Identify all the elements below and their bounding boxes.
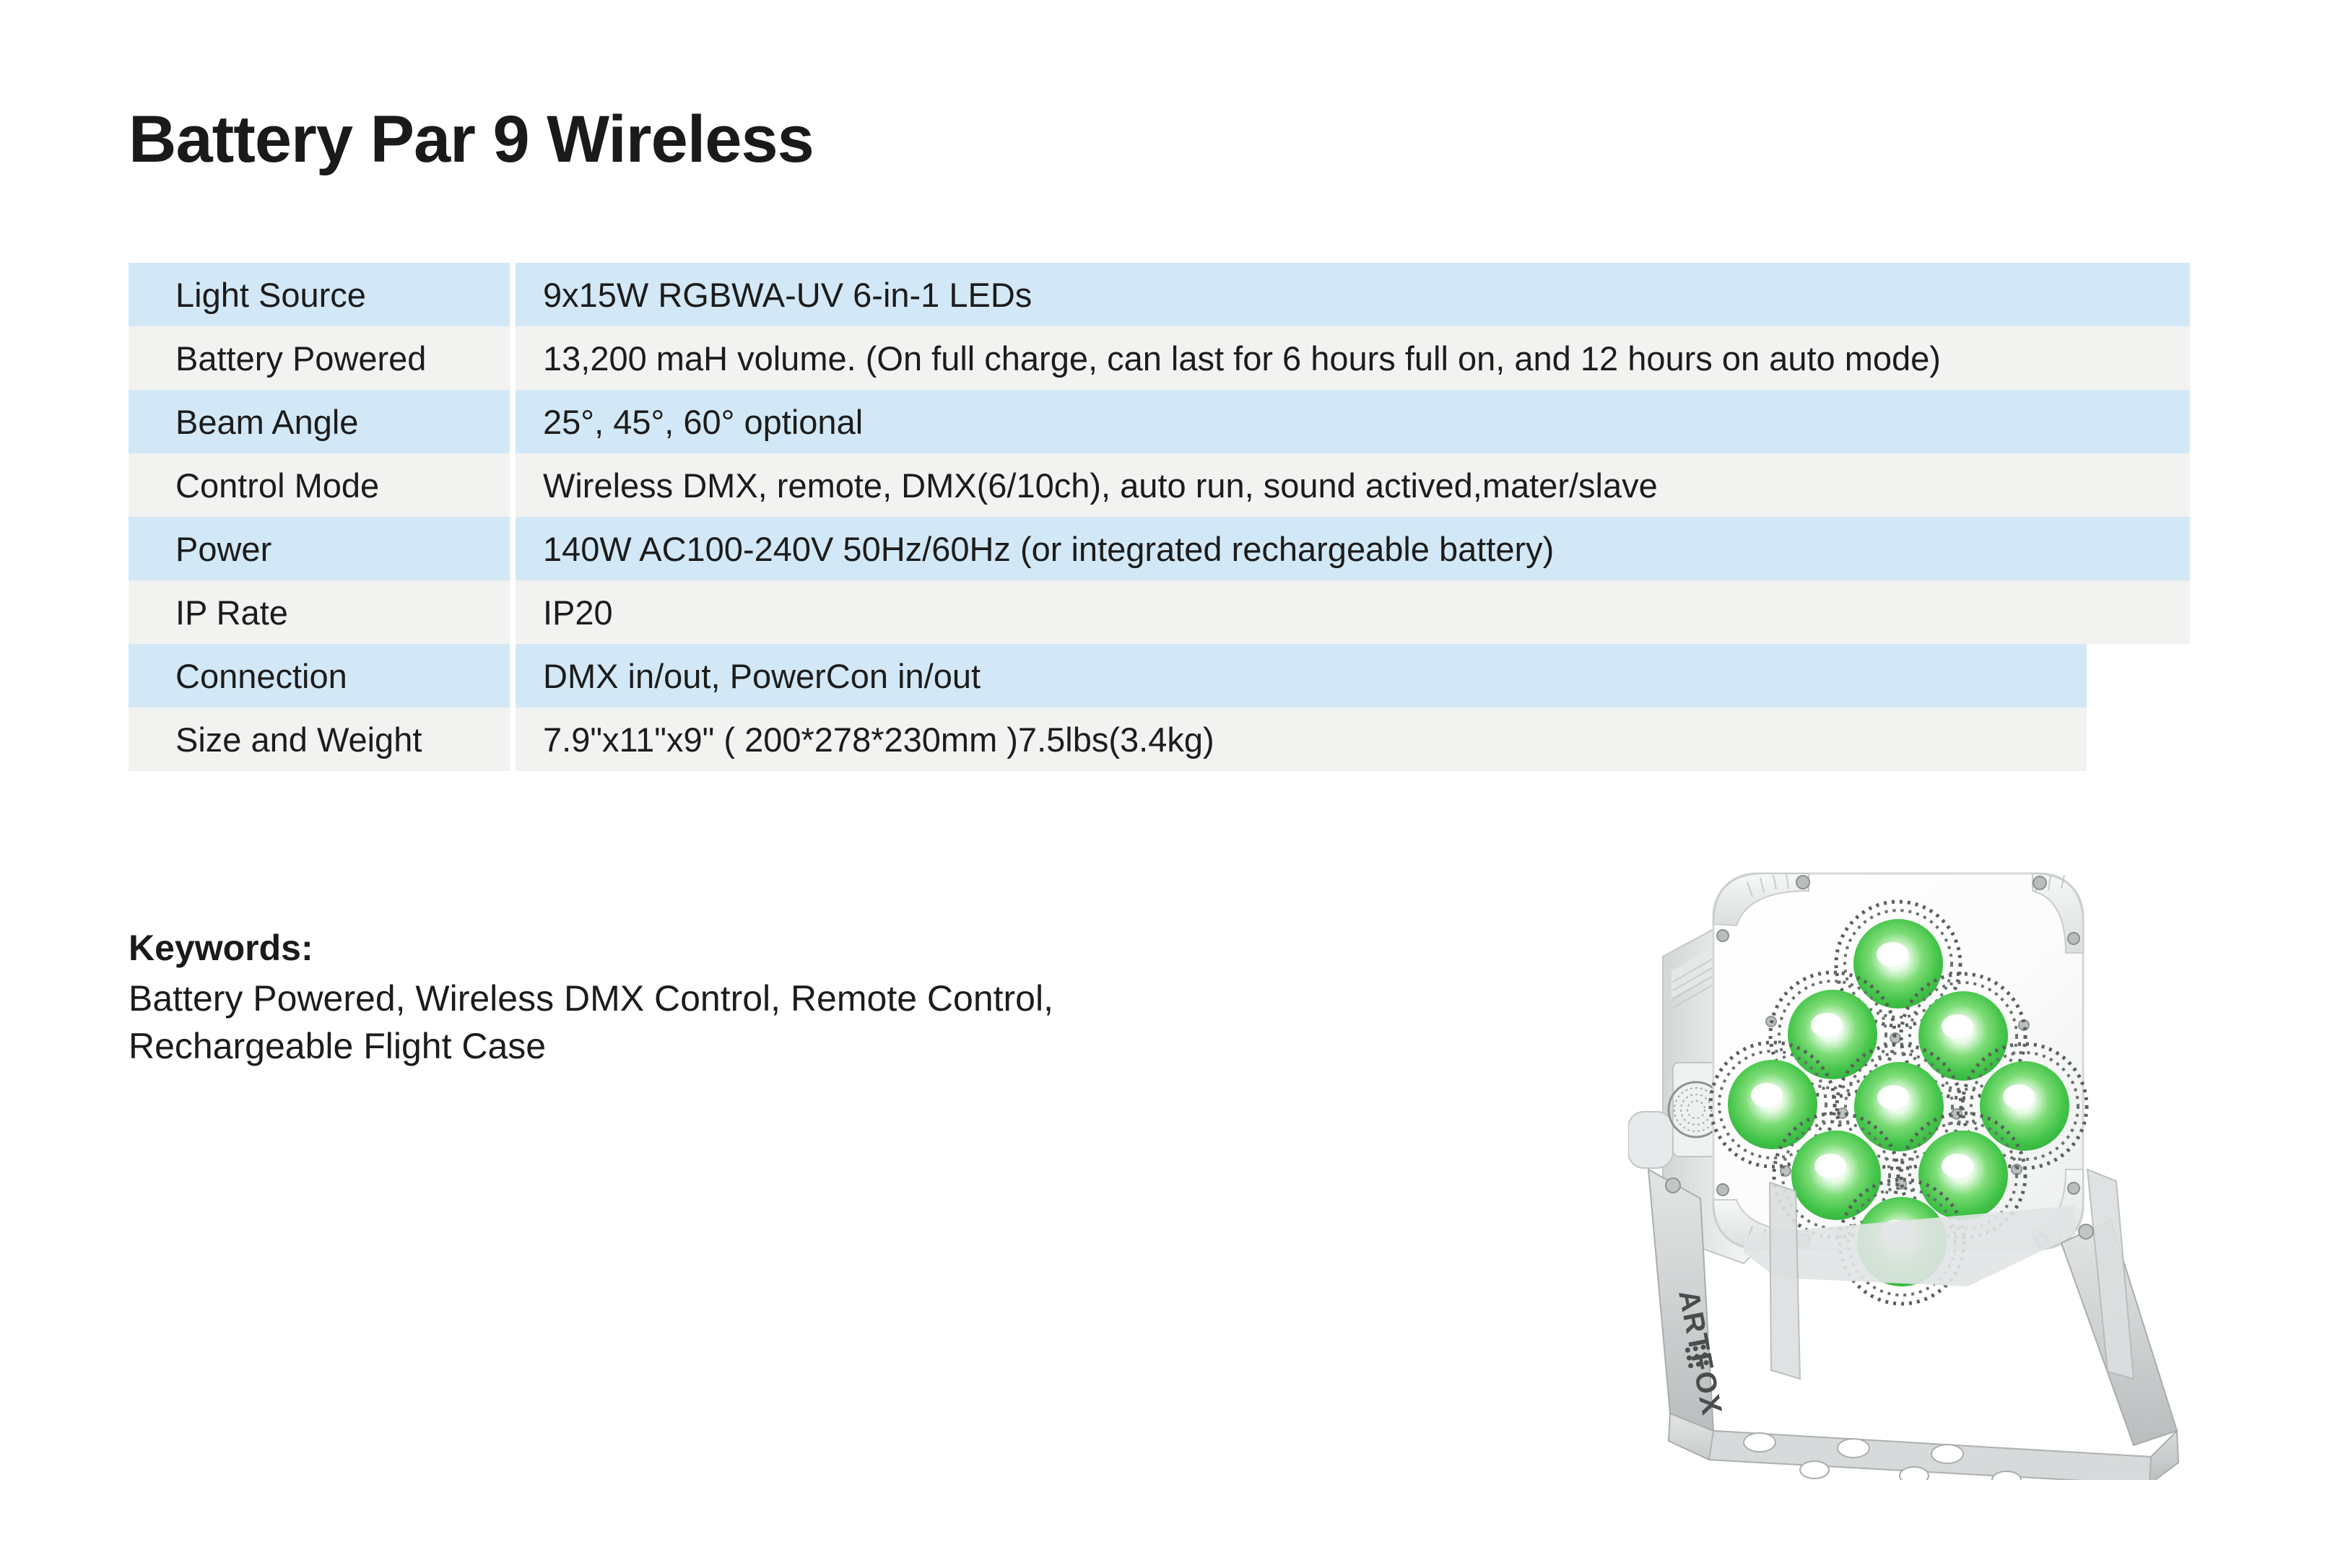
keywords-block: Keywords: Battery Powered, Wireless DMX … bbox=[129, 924, 1428, 1070]
column-divider bbox=[510, 453, 516, 517]
spec-label: IP Rate bbox=[129, 596, 510, 630]
column-divider bbox=[510, 326, 516, 390]
column-divider bbox=[510, 707, 516, 771]
spec-value: IP20 bbox=[516, 596, 2190, 630]
page-title: Battery Par 9 Wireless bbox=[129, 105, 814, 175]
table-row: Size and Weight 7.9"x11"x9" ( 200*278*23… bbox=[129, 707, 2087, 771]
spec-value: DMX in/out, PowerCon in/out bbox=[516, 659, 2087, 693]
led-par-illustration: ARTFOX bbox=[1628, 830, 2227, 1480]
product-photo-led-par: ARTFOX bbox=[1628, 830, 2227, 1480]
table-row: Connection DMX in/out, PowerCon in/out bbox=[129, 644, 2087, 707]
table-row: Beam Angle 25°, 45°, 60° optional bbox=[129, 390, 2190, 453]
keywords-heading: Keywords: bbox=[129, 924, 1428, 972]
pivot-screw bbox=[1666, 1178, 1680, 1193]
brand-logo-icon bbox=[1685, 1344, 1709, 1369]
spec-value: 7.9"x11"x9" ( 200*278*230mm )7.5lbs(3.4k… bbox=[516, 723, 2087, 757]
column-divider bbox=[510, 517, 516, 580]
pivot-screw bbox=[2079, 1224, 2093, 1239]
spec-value: 140W AC100-240V 50Hz/60Hz (or integrated… bbox=[516, 532, 2190, 566]
table-row: IP Rate IP20 bbox=[129, 580, 2190, 644]
column-divider bbox=[510, 580, 516, 644]
spec-value: 25°, 45°, 60° optional bbox=[516, 405, 2190, 439]
specification-table: Light Source 9x15W RGBWA-UV 6-in-1 LEDs … bbox=[129, 263, 2194, 771]
column-divider bbox=[510, 644, 516, 707]
spec-label: Connection bbox=[129, 659, 510, 693]
keywords-line-2: Rechargeable Flight Case bbox=[129, 1022, 1428, 1070]
spec-value: Wireless DMX, remote, DMX(6/10ch), auto … bbox=[516, 469, 2190, 502]
column-divider bbox=[510, 390, 516, 453]
table-row: Power 140W AC100-240V 50Hz/60Hz (or inte… bbox=[129, 517, 2190, 580]
spec-label: Beam Angle bbox=[129, 405, 510, 439]
spec-label: Control Mode bbox=[129, 469, 510, 502]
keywords-line-1: Battery Powered, Wireless DMX Control, R… bbox=[129, 975, 1428, 1022]
spec-label: Battery Powered bbox=[129, 341, 510, 375]
column-divider bbox=[510, 263, 516, 326]
table-row: Control Mode Wireless DMX, remote, DMX(6… bbox=[129, 453, 2190, 517]
spec-value: 9x15W RGBWA-UV 6-in-1 LEDs bbox=[516, 278, 2190, 312]
spec-label: Size and Weight bbox=[129, 723, 510, 757]
table-row: Light Source 9x15W RGBWA-UV 6-in-1 LEDs bbox=[129, 263, 2190, 326]
spec-label: Light Source bbox=[129, 278, 510, 312]
spec-value: 13,200 maH volume. (On full charge, can … bbox=[516, 341, 2190, 375]
spec-label: Power bbox=[129, 532, 510, 566]
table-row: Battery Powered 13,200 maH volume. (On f… bbox=[129, 326, 2190, 390]
